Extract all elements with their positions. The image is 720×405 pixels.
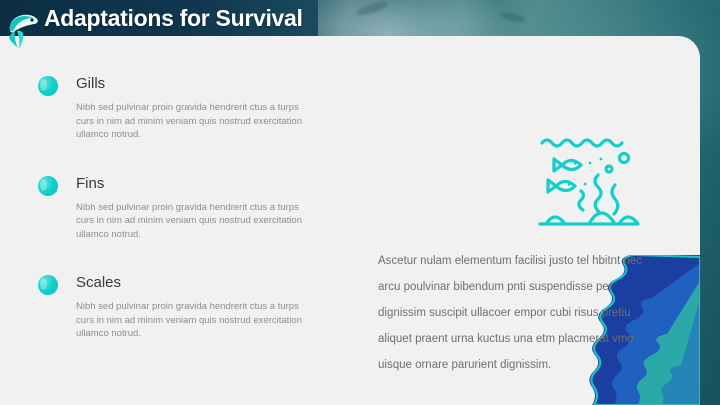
list-item[interactable]: Scales Nibh sed pulvinar proin gravida h… bbox=[38, 273, 313, 341]
list-item-body: Nibh sed pulvinar proin gravida hendreri… bbox=[76, 300, 308, 341]
list-item-title: Gills bbox=[76, 74, 313, 94]
bullet-dot-icon bbox=[38, 275, 58, 295]
adaptation-list: Gills Nibh sed pulvinar proin gravida he… bbox=[38, 74, 313, 341]
page-title: Adaptations for Survival bbox=[44, 5, 303, 32]
content-card: Gills Nibh sed pulvinar proin gravida he… bbox=[0, 36, 700, 405]
bullet-dot-icon bbox=[38, 176, 58, 196]
fish-logo-icon bbox=[6, 8, 42, 54]
aquarium-fish-seaweed-icon bbox=[536, 134, 644, 232]
list-item-title: Fins bbox=[76, 174, 313, 194]
list-item[interactable]: Fins Nibh sed pulvinar proin gravida hen… bbox=[38, 174, 313, 242]
body-paragraph: Ascetur nulam elementum facilisi justo t… bbox=[378, 248, 650, 378]
list-item-body: Nibh sed pulvinar proin gravida hendreri… bbox=[76, 201, 308, 242]
bullet-dot-icon bbox=[38, 76, 58, 96]
list-item[interactable]: Gills Nibh sed pulvinar proin gravida he… bbox=[38, 74, 313, 142]
list-item-title: Scales bbox=[76, 273, 313, 293]
list-item-body: Nibh sed pulvinar proin gravida hendreri… bbox=[76, 101, 308, 142]
slide-root: Adaptations for Survival Gills Nibh sed … bbox=[0, 0, 720, 405]
